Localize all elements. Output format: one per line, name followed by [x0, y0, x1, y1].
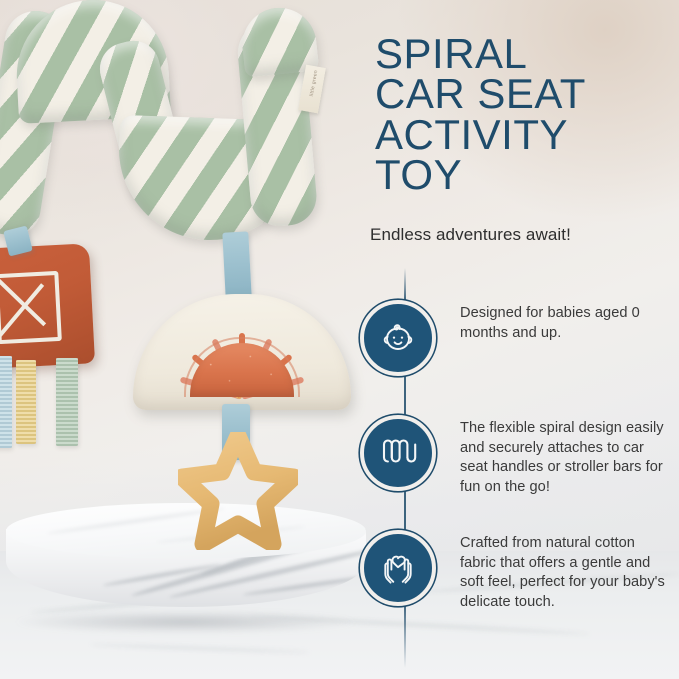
hands-holding-heart-icon	[378, 549, 418, 587]
feature-badge-1	[360, 300, 436, 376]
star-teether-ring	[178, 432, 298, 550]
feature-text-2: The flexible spiral design easily and se…	[460, 415, 675, 497]
headline-line-1: SPIRAL	[375, 34, 675, 74]
baby-face-icon	[378, 318, 418, 358]
ribbon-tag	[0, 356, 12, 448]
product-infographic-canvas: little green	[0, 0, 679, 679]
spiral-coil-icon	[377, 435, 419, 471]
ribbon-tag	[56, 358, 78, 446]
feature-badge-2	[360, 415, 436, 491]
feature-text-3: Crafted from natural cotton fabric that …	[460, 530, 675, 612]
striped-spiral-coil: little green	[0, 0, 356, 244]
headline-line-4: TOY	[375, 155, 675, 195]
feature-item-babies: Designed for babies aged 0 months and up…	[360, 300, 679, 376]
page-subtitle: Endless adventures await!	[370, 225, 675, 245]
barn-door-detail	[0, 271, 62, 344]
headline-line-2: CAR SEAT	[375, 74, 675, 114]
brand-tag-text: little green	[308, 66, 320, 101]
feature-text-1: Designed for babies aged 0 months and up…	[460, 300, 675, 343]
headline-line-3: ACTIVITY	[375, 115, 675, 155]
page-title: SPIRAL CAR SEAT ACTIVITY TOY	[375, 34, 675, 195]
barn-plush-toy	[0, 243, 95, 368]
feature-badge-3	[360, 530, 436, 606]
feature-item-cotton: Crafted from natural cotton fabric that …	[360, 530, 679, 612]
blue-fabric-strap	[222, 231, 251, 298]
feature-item-spiral: The flexible spiral design easily and se…	[360, 415, 679, 497]
ribbon-tag	[16, 360, 36, 444]
feature-list: Designed for babies aged 0 months and up…	[360, 268, 679, 668]
